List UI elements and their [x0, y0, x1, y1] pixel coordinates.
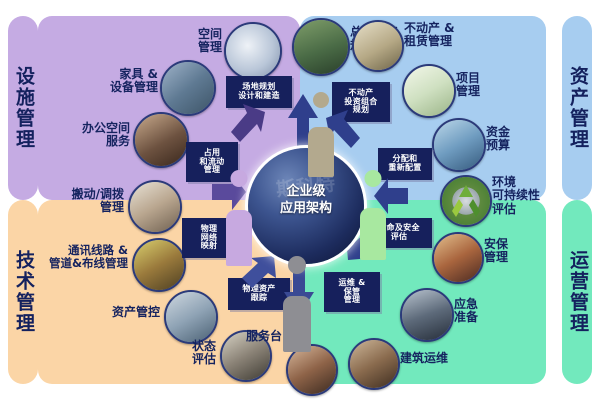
box-label-ops-custody-management: 运维 & 保管 管理 [339, 279, 366, 306]
silhouette-tan [308, 92, 334, 172]
silhouette-gray-front [283, 256, 311, 348]
comms-cabling-icon[interactable] [132, 238, 186, 292]
node-label-environment-sustainability: 环境 可持续性 评估 [492, 176, 554, 216]
node-label-move-transfer-management: 搬动/调拨 管理 [58, 188, 124, 215]
recycle-icon [442, 177, 490, 225]
emergency-preparedness-icon[interactable] [400, 288, 454, 342]
arrow-upright-to-center [229, 102, 269, 146]
node-label-fund-budget: 资金 预算 [486, 126, 536, 153]
space-management-icon[interactable] [224, 22, 282, 80]
project-management-icon[interactable] [402, 64, 456, 118]
asset-control-icon[interactable] [164, 290, 218, 344]
box-label-allocation-reconfiguration: 分配和 重新配置 [388, 155, 421, 173]
node-label-furniture-equipment: 家具 & 设备管理 [98, 68, 158, 95]
node-label-service-desk: 服务台 [230, 330, 282, 343]
node-label-emergency-preparedness: 应急 准备 [454, 298, 504, 325]
move-transfer-icon[interactable] [128, 180, 182, 234]
silhouette-purple [226, 170, 252, 262]
diagram-canvas: 设施管理 技术管理 资产管理 运营管理 斯科特 企业级 应用架构 [0, 0, 600, 400]
node-label-project-management: 项目 管理 [456, 72, 506, 99]
rail-operation-management: 运营管理 [562, 200, 592, 384]
node-label-condition-assessment: 状态 评估 [168, 340, 216, 367]
box-ops-custody-management[interactable]: 运维 & 保管 管理 [324, 272, 380, 312]
rail-facility-management: 设施管理 [8, 16, 38, 200]
node-label-security-management: 安保 管理 [484, 238, 534, 265]
center-sphere: 斯科特 企业级 应用架构 [248, 148, 364, 264]
rail-label-facility: 设施管理 [13, 66, 33, 150]
realestate-lease-icon[interactable] [352, 20, 404, 72]
silhouette-green [360, 170, 386, 256]
rail-asset-management: 资产管理 [562, 16, 592, 200]
rail-label-asset: 资产管理 [567, 66, 587, 150]
node-label-building-ops-maintenance: 建筑运维 [400, 352, 468, 365]
box-label-physical-network-mapping: 物理 网络 映射 [201, 225, 218, 252]
node-label-space-management: 空间 管理 [172, 28, 222, 55]
rail-label-technical: 技术管理 [13, 250, 33, 334]
furniture-equipment-icon[interactable] [160, 60, 216, 116]
node-label-comms-line-conduit-cabling: 通讯线路 & 管道&布线管理 [42, 244, 128, 270]
fund-budget-icon[interactable] [432, 118, 486, 172]
node-label-office-space-service: 办公空间 服务 [68, 122, 130, 149]
rail-technical-management: 技术管理 [8, 200, 38, 384]
office-space-service-icon[interactable] [133, 112, 189, 168]
node-label-realestate-lease-management: 不动产 & 租赁管理 [404, 22, 478, 49]
building-ops-icon[interactable] [348, 338, 400, 390]
environment-sustainability-icon[interactable] [440, 175, 492, 227]
security-management-icon[interactable] [432, 232, 484, 284]
node-label-asset-control: 资产管控 [96, 306, 160, 319]
sphere-title: 企业级 应用架构 [248, 184, 364, 218]
overall-strategy-icon[interactable] [292, 18, 350, 76]
rail-label-operation: 运营管理 [567, 250, 587, 334]
box-label-site-planning-design-build: 场地规划 设计和建造 [238, 83, 280, 101]
